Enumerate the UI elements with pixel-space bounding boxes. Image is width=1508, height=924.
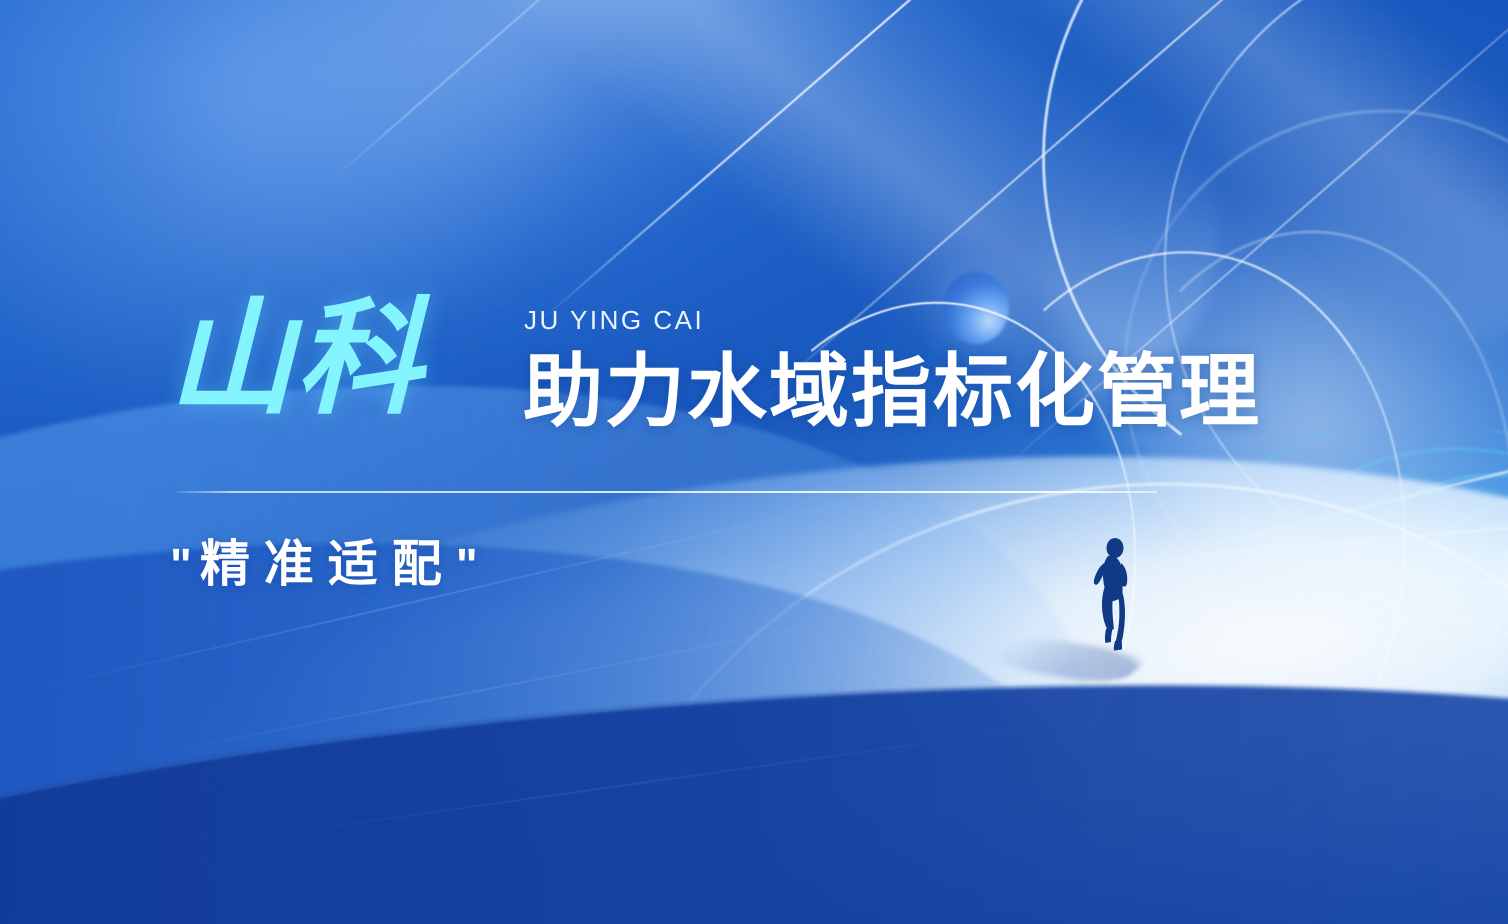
banner-headline: 助力水域指标化管理 (523, 352, 1261, 432)
brand-pinyin-text: JU YING CAI (524, 305, 704, 336)
tagline-close-quote: " (456, 539, 486, 591)
brand-logo-text: 山科 (168, 296, 424, 422)
tagline-open-quote: " (170, 539, 200, 591)
banner-content: 山科 JU YING CAI 助力水域指标化管理 "精准适配" (0, 0, 1508, 924)
banner-tagline: "精准适配" (170, 539, 486, 589)
banner-canvas: 山科 JU YING CAI 助力水域指标化管理 "精准适配" (0, 0, 1508, 924)
tagline-text: 精准适配 (200, 536, 456, 592)
horizontal-divider (175, 491, 1157, 493)
